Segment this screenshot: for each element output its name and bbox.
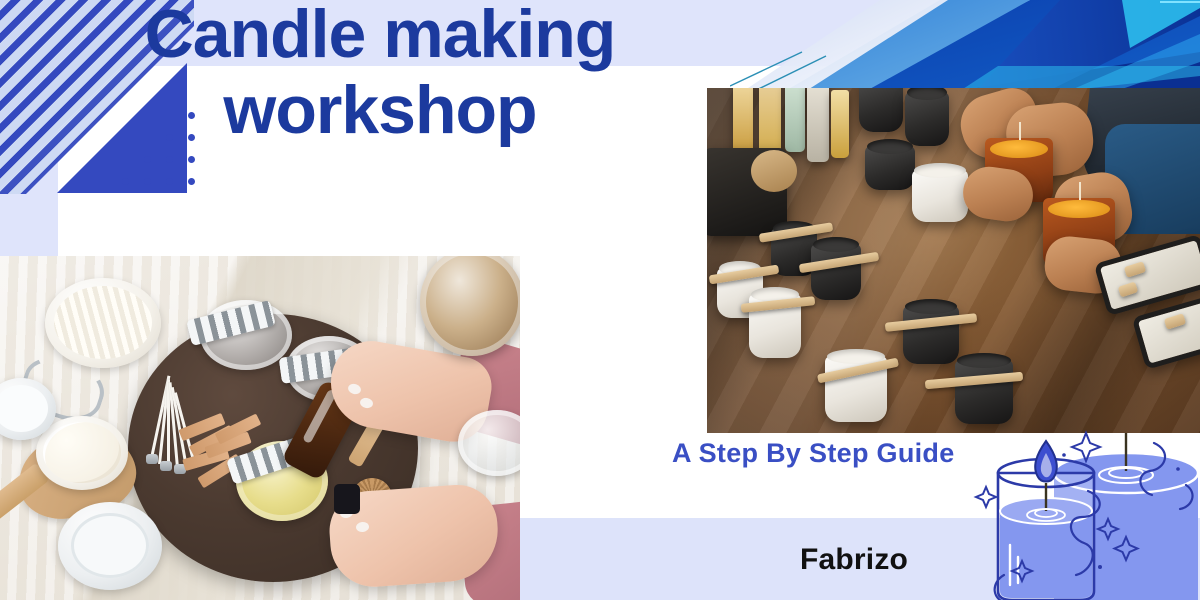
ribbon-decoration: [730, 0, 1200, 100]
author-name: Fabrizo: [800, 543, 908, 577]
dot: [188, 178, 195, 185]
dot: [166, 178, 173, 185]
photo-candle-supplies: [0, 256, 520, 600]
candle-illustration: [940, 425, 1200, 600]
dot: [122, 178, 129, 185]
subtitle: A Step By Step Guide: [672, 438, 955, 469]
dot: [144, 156, 151, 163]
poster-canvas: Candle making workshop A Step By Step Gu…: [0, 0, 1200, 600]
dot: [188, 156, 195, 163]
dot: [166, 156, 173, 163]
dot: [144, 178, 151, 185]
photo-candle-workshop: [707, 88, 1200, 433]
ribbon-svg: [730, 0, 1200, 100]
page-title: Candle making workshop: [0, 0, 760, 148]
candle-illustration-svg: [940, 425, 1200, 600]
